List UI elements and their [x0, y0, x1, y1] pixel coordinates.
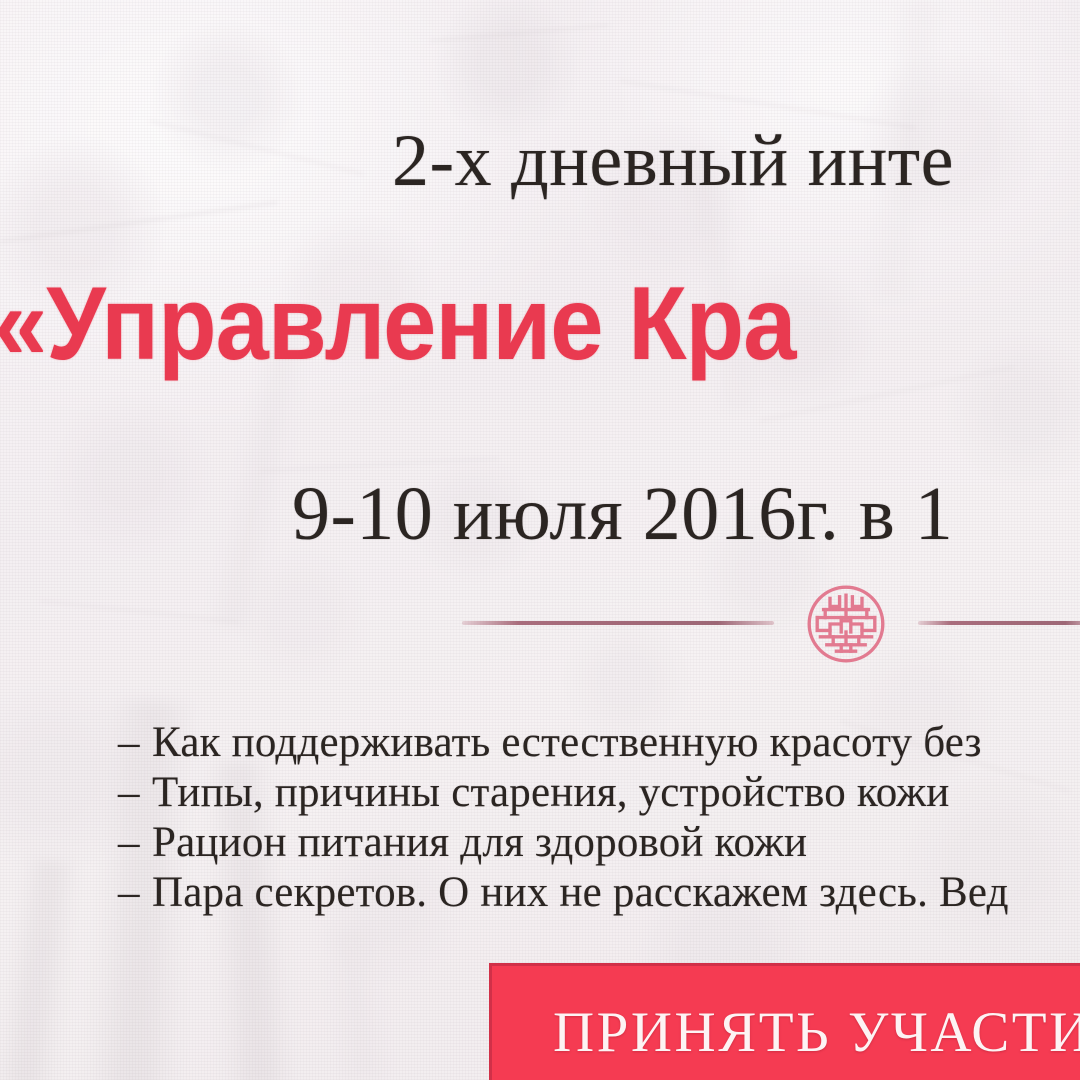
promo-poster: 2-х дневный инте «Управление Кра 9-10 ию… [0, 0, 1080, 1080]
bullet-dash: – [118, 768, 152, 818]
event-date-time: 9-10 июля 2016г. в 1 [292, 476, 953, 552]
list-item: – Рацион питания для здоровой кожи [118, 818, 1080, 868]
divider-rule-left [462, 621, 774, 625]
bullet-dash: – [118, 818, 152, 868]
oriental-longevity-seal-icon [806, 584, 886, 664]
ornamental-divider [0, 576, 1080, 672]
event-kicker: 2-х дневный инте [392, 124, 954, 198]
bullet-dash: – [118, 868, 152, 918]
list-item-label: Типы, причины старения, устройство кожи [152, 768, 950, 818]
list-item: – Пара секретов. О них не расскажем здес… [118, 868, 1080, 918]
list-item-label: Пара секретов. О них не расскажем здесь.… [152, 868, 1009, 918]
bullet-dash: – [118, 718, 152, 768]
register-button[interactable]: ПРИНЯТЬ УЧАСТИ [489, 963, 1080, 1080]
topic-list: – Как поддерживать естественную красоту … [118, 718, 1080, 918]
list-item: – Как поддерживать естественную красоту … [118, 718, 1080, 768]
register-button-label: ПРИНЯТЬ УЧАСТИ [553, 1004, 1080, 1061]
divider-rule-right [918, 621, 1080, 625]
list-item-label: Рацион питания для здоровой кожи [152, 818, 807, 868]
list-item: – Типы, причины старения, устройство кож… [118, 768, 1080, 818]
list-item-label: Как поддерживать естественную красоту бе… [152, 718, 982, 768]
poster-title: «Управление Кра [0, 272, 795, 376]
